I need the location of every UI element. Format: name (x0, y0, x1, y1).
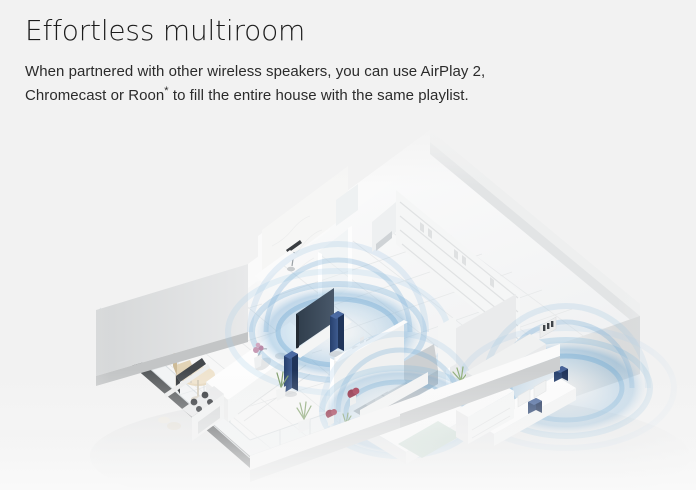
kitchen-bowl-2 (167, 422, 181, 430)
body-line-2: Chromecast or Roon* to fill the entire h… (25, 84, 665, 108)
page-root: Effortless multiroom When partnered with… (0, 0, 696, 490)
body-line-1: When partnered with other wireless speak… (25, 60, 665, 84)
page-title: Effortless multiroom (25, 14, 665, 48)
apartment-illustration (0, 126, 696, 490)
apartment-illustration-svg (0, 126, 696, 490)
text-block: Effortless multiroom When partnered with… (25, 14, 665, 107)
kitchen-bowl-3 (158, 417, 170, 424)
body-line-2-pre: Chromecast or Roon (25, 87, 164, 104)
body-line-2-post: to fill the entire house with the same p… (169, 87, 469, 104)
